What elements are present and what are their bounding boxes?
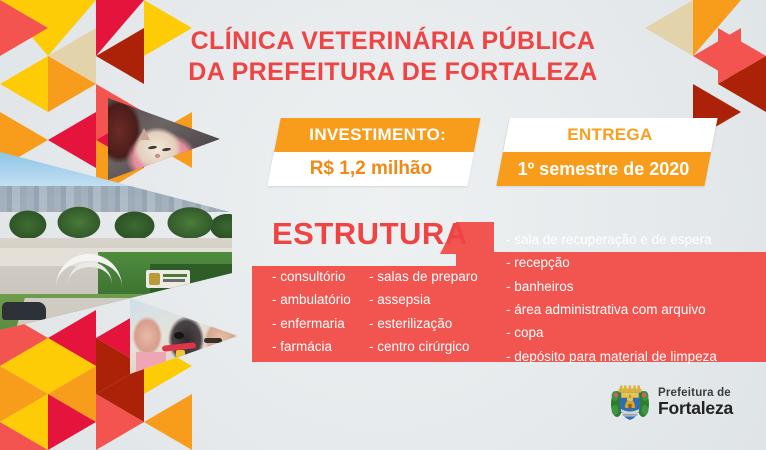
decorative-triangle (96, 394, 144, 450)
decorative-triangle (48, 112, 96, 168)
structure-column-1: - consultório - ambulatório - enfermaria… (272, 265, 351, 358)
list-item: - banheiros (506, 275, 717, 298)
delivery-badge: ENTREGA 1º semestre de 2020 (496, 118, 717, 186)
structure-column-3: - sala de recuperação e de espera - rece… (506, 228, 717, 368)
structure-heading: ESTRUTURA (272, 216, 468, 252)
title-line-1: CLÍNICA VETERINÁRIA PÚBLICA (191, 27, 596, 55)
logo-text: Prefeitura de Fortaleza (658, 388, 733, 418)
list-item: - recepção (506, 251, 717, 274)
delivery-value: 1º semestre de 2020 (518, 159, 690, 180)
decorative-triangle (48, 56, 96, 112)
decorative-triangle (0, 422, 48, 450)
list-item: - consultório (272, 265, 351, 288)
list-item: - sala de recuperação e de espera (506, 228, 717, 251)
list-item: - farmácia (272, 335, 351, 358)
list-item: - copa (506, 321, 717, 344)
investment-badge: INVESTIMENTO: R$ 1,2 milhão (267, 118, 480, 186)
investment-value: R$ 1,2 milhão (309, 158, 432, 180)
logo-line-2: Fortaleza (658, 400, 733, 418)
list-item: - área administrativa com arquivo (506, 298, 717, 321)
structure-column-2: - salas de preparo - assepsia - esterili… (369, 265, 478, 358)
fortaleza-coat-of-arms-icon (610, 382, 650, 424)
investment-label: INVESTIMENTO: (309, 125, 446, 145)
decorative-triangle (144, 394, 192, 450)
delivery-label: ENTREGA (568, 125, 653, 145)
decorative-triangle (645, 0, 693, 56)
list-item: - salas de preparo (369, 265, 478, 288)
decorative-triangle (718, 56, 766, 112)
clinic-signage (146, 270, 190, 288)
list-item: - esterilização (369, 312, 478, 335)
list-item: - ambulatório (272, 288, 351, 311)
list-item: - depósito para material de limpeza (506, 345, 717, 368)
list-item: - enfermaria (272, 312, 351, 335)
decorative-triangle (0, 0, 48, 56)
decorative-triangle (96, 28, 144, 84)
decorative-triangle (0, 56, 48, 112)
decorative-triangle (48, 394, 96, 450)
list-item: - assepsia (369, 288, 478, 311)
list-item: - centro cirúrgico (369, 335, 478, 358)
infographic-canvas: CLÍNICA VETERINÁRIA PÚBLICA DA PREFEITUR… (0, 0, 766, 450)
prefeitura-fortaleza-logo: Prefeitura de Fortaleza (610, 380, 758, 426)
title-line-2: DA PREFEITURA DE FORTALEZA (183, 57, 603, 88)
page-title: CLÍNICA VETERINÁRIA PÚBLICA DA PREFEITUR… (183, 26, 603, 87)
